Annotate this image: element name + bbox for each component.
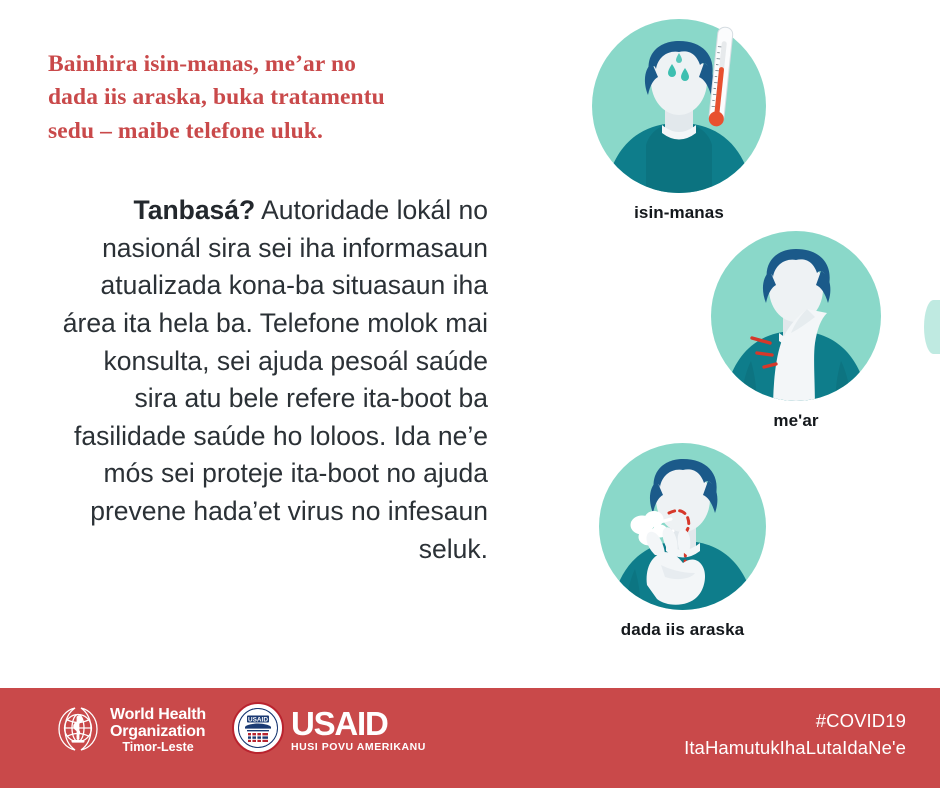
left-text-column: Bainhira isin-manas, me’ar no dada iis a…	[48, 48, 488, 148]
usaid-name: USAID	[291, 708, 426, 740]
usaid-seal-icon: USAID	[232, 702, 284, 759]
footer-logos: World Health Organization Timor-Leste US…	[55, 702, 426, 759]
shortness-of-breath-icon	[599, 443, 766, 610]
body-lead-in: Tanbasá?	[133, 195, 255, 225]
edge-circle-sliver	[924, 300, 940, 354]
symptom-card-fever: isin-manas	[592, 19, 766, 223]
who-logo: World Health Organization Timor-Leste	[55, 705, 206, 756]
who-wordmark: World Health Organization Timor-Leste	[110, 707, 206, 753]
hashtag-covid19: #COVID19	[684, 708, 906, 735]
body-paragraph: Tanbasá? Autoridade lokál no nasionál si…	[58, 192, 488, 568]
symptom-label-cough: me'ar	[711, 411, 881, 431]
symptom-label-breath: dada iis araska	[599, 620, 766, 640]
who-country: Timor-Leste	[110, 741, 206, 754]
usaid-logo: USAID	[232, 702, 426, 759]
symptom-card-cough: me'ar	[711, 231, 881, 431]
footer-hashtags: #COVID19 ItaHamutukIhaLutaIdaNe'e	[684, 708, 906, 762]
who-line-2: Organization	[110, 724, 206, 741]
body-copy: Autoridade lokál no nasionál sira sei ih…	[63, 195, 488, 564]
svg-text:USAID: USAID	[248, 716, 268, 723]
who-line-1: World Health	[110, 707, 206, 724]
usaid-wordmark: USAID HUSI POVU AMERIKANU	[291, 708, 426, 753]
cough-into-elbow-icon	[711, 231, 881, 401]
footer-band: World Health Organization Timor-Leste US…	[0, 688, 940, 788]
hashtag-campaign: ItaHamutukIhaLutaIdaNe'e	[684, 735, 906, 762]
symptom-card-breath: dada iis araska	[599, 443, 766, 640]
fever-person-thermometer-icon	[592, 19, 766, 193]
symptom-label-fever: isin-manas	[592, 203, 766, 223]
who-emblem-icon	[55, 705, 101, 756]
usaid-tagline: HUSI POVU AMERIKANU	[291, 741, 426, 753]
headline: Bainhira isin-manas, me’ar no dada iis a…	[48, 48, 488, 148]
